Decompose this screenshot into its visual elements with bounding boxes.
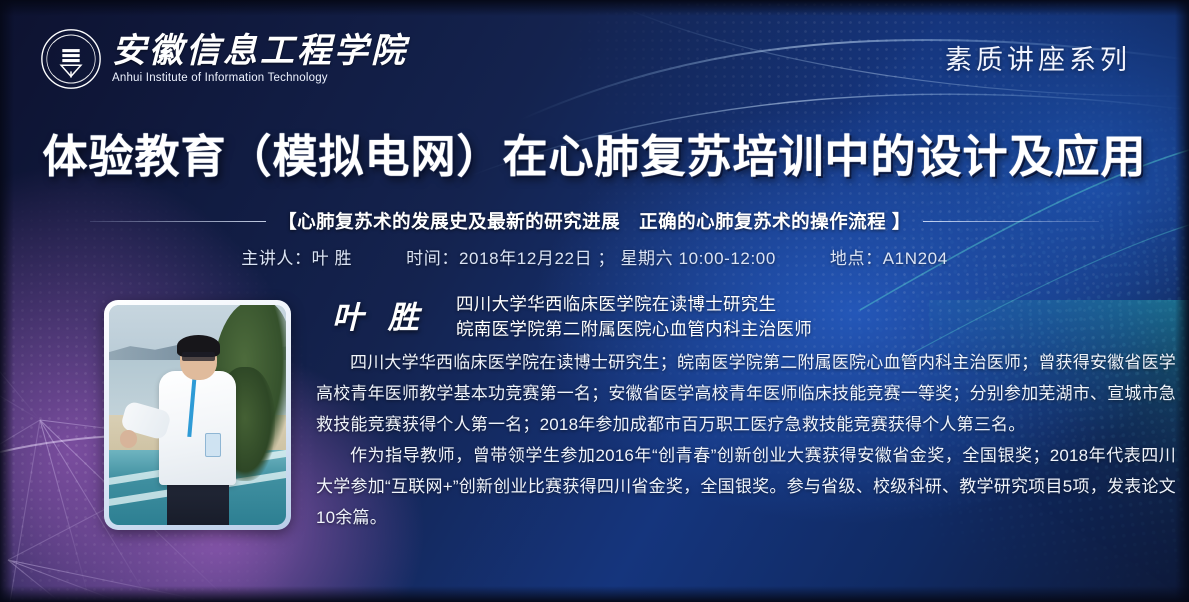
speaker-name: 叶 胜 <box>332 292 426 337</box>
info-place: 地点：A1N204 <box>830 244 948 269</box>
photo-id-badge <box>205 433 221 457</box>
logo-english-name: Anhui Institute of Information Technolog… <box>112 72 408 84</box>
speaker-photo-frame <box>104 300 291 530</box>
photo-person-glasses <box>182 352 216 361</box>
bio-paragraph: 四川大学华西临床医学院在读博士研究生；皖南医学院第二附属医院心血管内科主治医师；… <box>316 347 1176 440</box>
photo-person-shirt <box>159 371 237 485</box>
lecture-poster: 安徽信息工程学院 Anhui Institute of Information … <box>0 0 1189 602</box>
rule-right <box>923 221 1099 222</box>
info-speaker: 主讲人：叶 胜 <box>241 244 352 269</box>
speaker-title-line-1: 四川大学华西临床医学院在读博士研究生 <box>456 292 812 317</box>
subtitle-row: 【心肺复苏术的发展史及最新的研究进展 正确的心肺复苏术的操作流程 】 <box>0 208 1189 234</box>
logo-chinese-name: 安徽信息工程学院 <box>112 34 408 70</box>
rule-left <box>90 221 266 222</box>
info-time: 时间：2018年12月22日 ； 星期六 10:00-12:00 <box>406 244 776 269</box>
lecture-info-row: 主讲人：叶 胜 时间：2018年12月22日 ； 星期六 10:00-12:00… <box>0 244 1189 269</box>
photo-person-hand <box>120 430 138 448</box>
speaker-bio: 四川大学华西临床医学院在读博士研究生；皖南医学院第二附属医院心血管内科主治医师；… <box>316 347 1176 533</box>
university-logo: 安徽信息工程学院 Anhui Institute of Information … <box>40 28 408 90</box>
subtitle: 【心肺复苏术的发展史及最新的研究进展 正确的心肺复苏术的操作流程 】 <box>278 208 911 234</box>
university-seal-icon <box>40 28 102 90</box>
page-title: 体验教育（模拟电网）在心肺复苏培训中的设计及应用 <box>0 120 1189 185</box>
series-label: 素质讲座系列 <box>945 38 1131 77</box>
bio-paragraph: 作为指导教师，曾带领学生参加2016年“创青春”创新创业大赛获得安徽省金奖，全国… <box>316 440 1176 533</box>
speaker-photo <box>109 305 286 525</box>
speaker-title-line-2: 皖南医学院第二附属医院心血管内科主治医师 <box>456 317 812 342</box>
speaker-titles: 四川大学华西临床医学院在读博士研究生 皖南医学院第二附属医院心血管内科主治医师 <box>456 292 812 342</box>
